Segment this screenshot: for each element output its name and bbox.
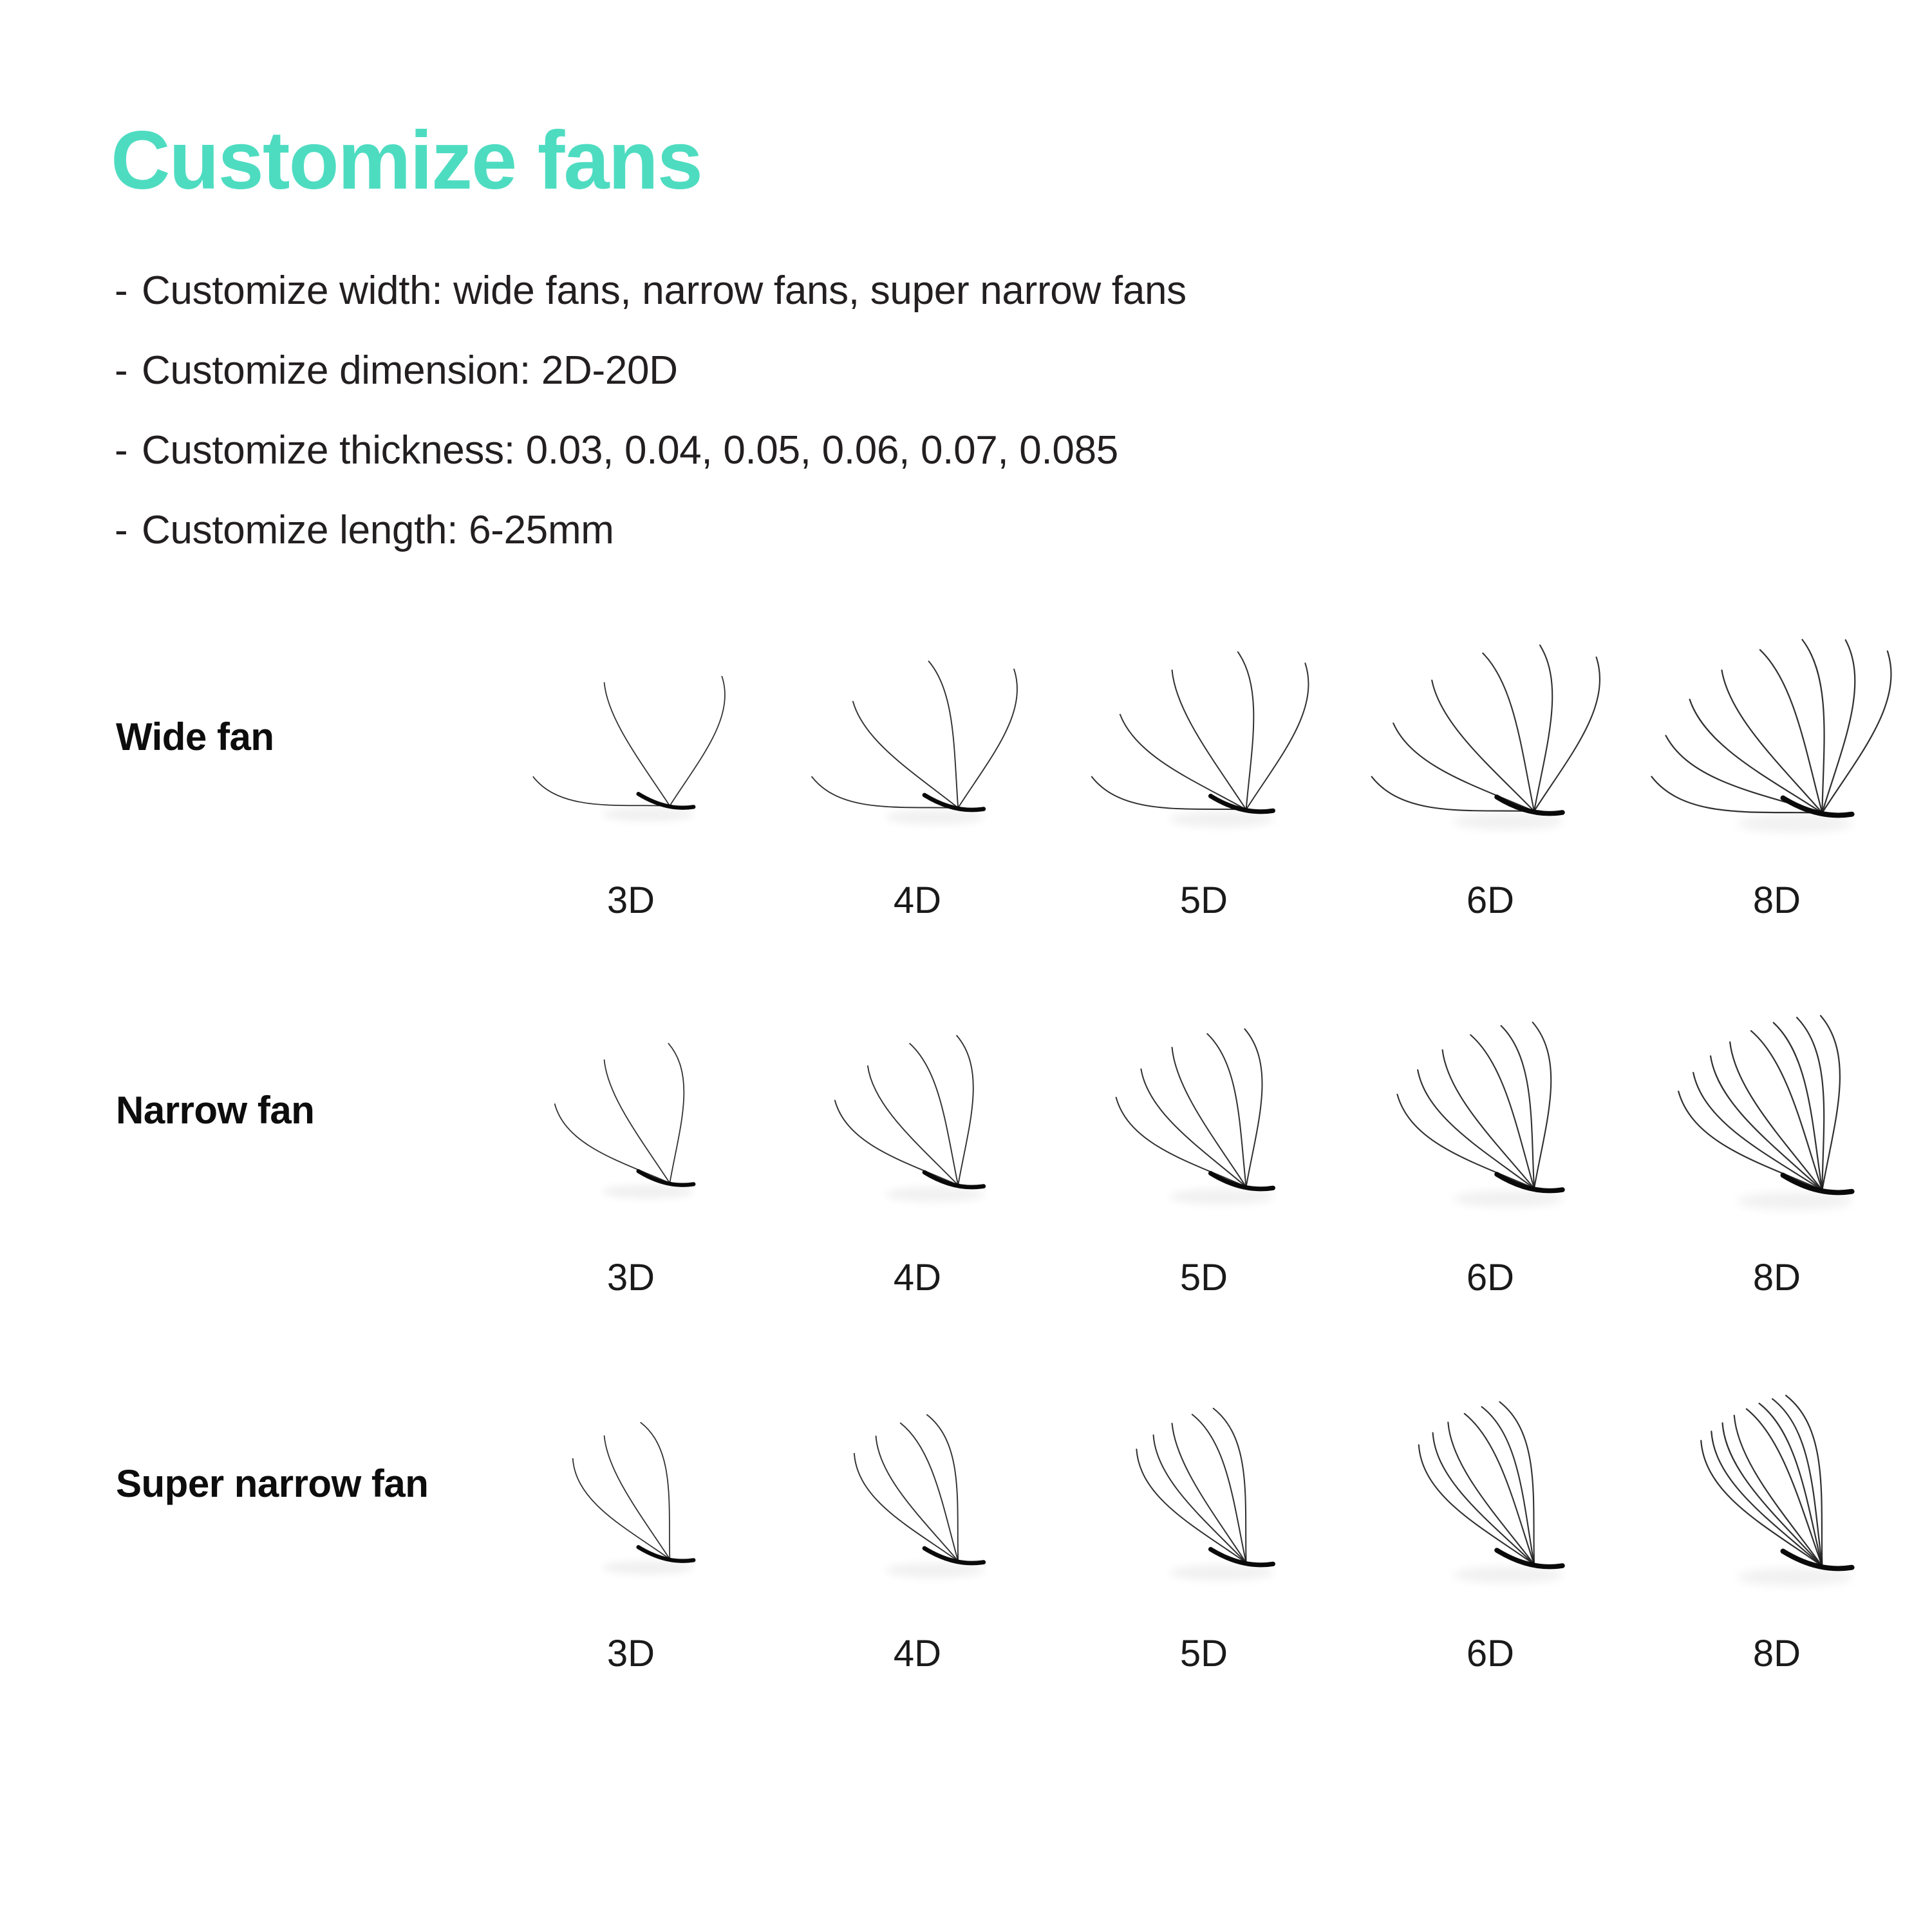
fan-cell-narrow-3d: 3D xyxy=(502,985,760,1352)
lash-fan-icon xyxy=(1362,618,1619,876)
spec-text: Customize width: wide fans, narrow fans,… xyxy=(142,271,1186,311)
spec-text: Customize thickness: 0.03, 0.04, 0.05, 0… xyxy=(142,431,1118,471)
fan-caption: 5D xyxy=(1180,1259,1228,1297)
fan-caption: 4D xyxy=(894,882,941,919)
lash-fan-icon xyxy=(502,995,760,1253)
fan-cell-super-narrow-6d: 6D xyxy=(1362,1352,1619,1719)
spec-line-width: - Customize width: wide fans, narrow fan… xyxy=(115,251,1660,331)
fan-cell-super-narrow-4d: 4D xyxy=(789,1352,1046,1719)
fan-cell-narrow-6d: 6D xyxy=(1362,985,1619,1352)
page-title: Customize fans xyxy=(111,120,702,202)
fan-cell-super-narrow-8d: 8D xyxy=(1648,1352,1906,1719)
fan-cell-narrow-5d: 5D xyxy=(1075,985,1333,1352)
fan-row-narrow: Narrow fan 3D 4D 5D 6D 8D xyxy=(0,985,1932,1352)
lash-fan-icon xyxy=(1648,618,1906,876)
fan-cell-wide-6d: 6D xyxy=(1362,618,1619,985)
fan-caption: 5D xyxy=(1180,882,1228,919)
spec-dash: - xyxy=(115,351,142,391)
spec-text: Customize dimension: 2D-20D xyxy=(142,351,678,391)
spec-dash: - xyxy=(115,431,142,471)
lash-fan-icon xyxy=(1075,995,1333,1253)
fan-cell-narrow-8d: 8D xyxy=(1648,985,1906,1352)
fan-caption: 6D xyxy=(1467,882,1514,919)
fan-row-wide: Wide fan 3D 4D 5D 6D 8D xyxy=(0,618,1932,985)
row-cells-wide: 3D 4D 5D 6D 8D xyxy=(502,618,1906,985)
lash-fan-icon xyxy=(789,618,1046,876)
lash-fan-icon xyxy=(789,1371,1046,1629)
fan-cell-super-narrow-3d: 3D xyxy=(502,1352,760,1719)
fan-cell-wide-8d: 8D xyxy=(1648,618,1906,985)
lash-fan-icon xyxy=(1648,995,1906,1253)
fan-caption: 5D xyxy=(1180,1635,1228,1673)
fan-cell-wide-5d: 5D xyxy=(1075,618,1333,985)
spec-line-length: - Customize length: 6-25mm xyxy=(115,491,1660,570)
spec-text: Customize length: 6-25mm xyxy=(142,511,614,550)
fan-caption: 3D xyxy=(607,1259,655,1297)
row-label-super-narrow: Super narrow fan xyxy=(116,1461,428,1506)
lash-fan-icon xyxy=(1648,1371,1906,1629)
fan-caption: 8D xyxy=(1753,1259,1801,1297)
fan-caption: 6D xyxy=(1467,1635,1514,1673)
fan-cell-super-narrow-5d: 5D xyxy=(1075,1352,1333,1719)
spec-dash: - xyxy=(115,511,142,550)
spec-dash: - xyxy=(115,271,142,311)
row-cells-narrow: 3D 4D 5D 6D 8D xyxy=(502,985,1906,1352)
row-cells-super-narrow: 3D 4D 5D 6D 8D xyxy=(502,1352,1906,1719)
lash-fan-icon xyxy=(1075,1371,1333,1629)
fan-caption: 3D xyxy=(607,882,655,919)
fan-caption: 3D xyxy=(607,1635,655,1673)
row-label-wide: Wide fan xyxy=(116,715,274,759)
fan-comparison-grid: Wide fan 3D 4D 5D 6D 8D xyxy=(0,618,1932,1719)
spec-line-thickness: - Customize thickness: 0.03, 0.04, 0.05,… xyxy=(115,411,1660,491)
fan-cell-wide-3d: 3D xyxy=(502,618,760,985)
fan-caption: 4D xyxy=(894,1635,941,1673)
fan-caption: 6D xyxy=(1467,1259,1514,1297)
row-label-narrow: Narrow fan xyxy=(116,1088,314,1132)
lash-fan-icon xyxy=(1075,618,1333,876)
lash-fan-icon xyxy=(789,995,1046,1253)
fan-row-super-narrow: Super narrow fan 3D 4D 5D 6D 8D xyxy=(0,1352,1932,1719)
lash-fan-icon xyxy=(502,1371,760,1629)
spec-line-dimension: - Customize dimension: 2D-20D xyxy=(115,331,1660,411)
fan-cell-narrow-4d: 4D xyxy=(789,985,1046,1352)
fan-caption: 4D xyxy=(894,1259,941,1297)
lash-fan-icon xyxy=(502,618,760,876)
lash-fan-icon xyxy=(1362,1371,1619,1629)
fan-caption: 8D xyxy=(1753,1635,1801,1673)
spec-list: - Customize width: wide fans, narrow fan… xyxy=(115,251,1660,570)
fan-caption: 8D xyxy=(1753,882,1801,919)
fan-cell-wide-4d: 4D xyxy=(789,618,1046,985)
lash-fan-icon xyxy=(1362,995,1619,1253)
